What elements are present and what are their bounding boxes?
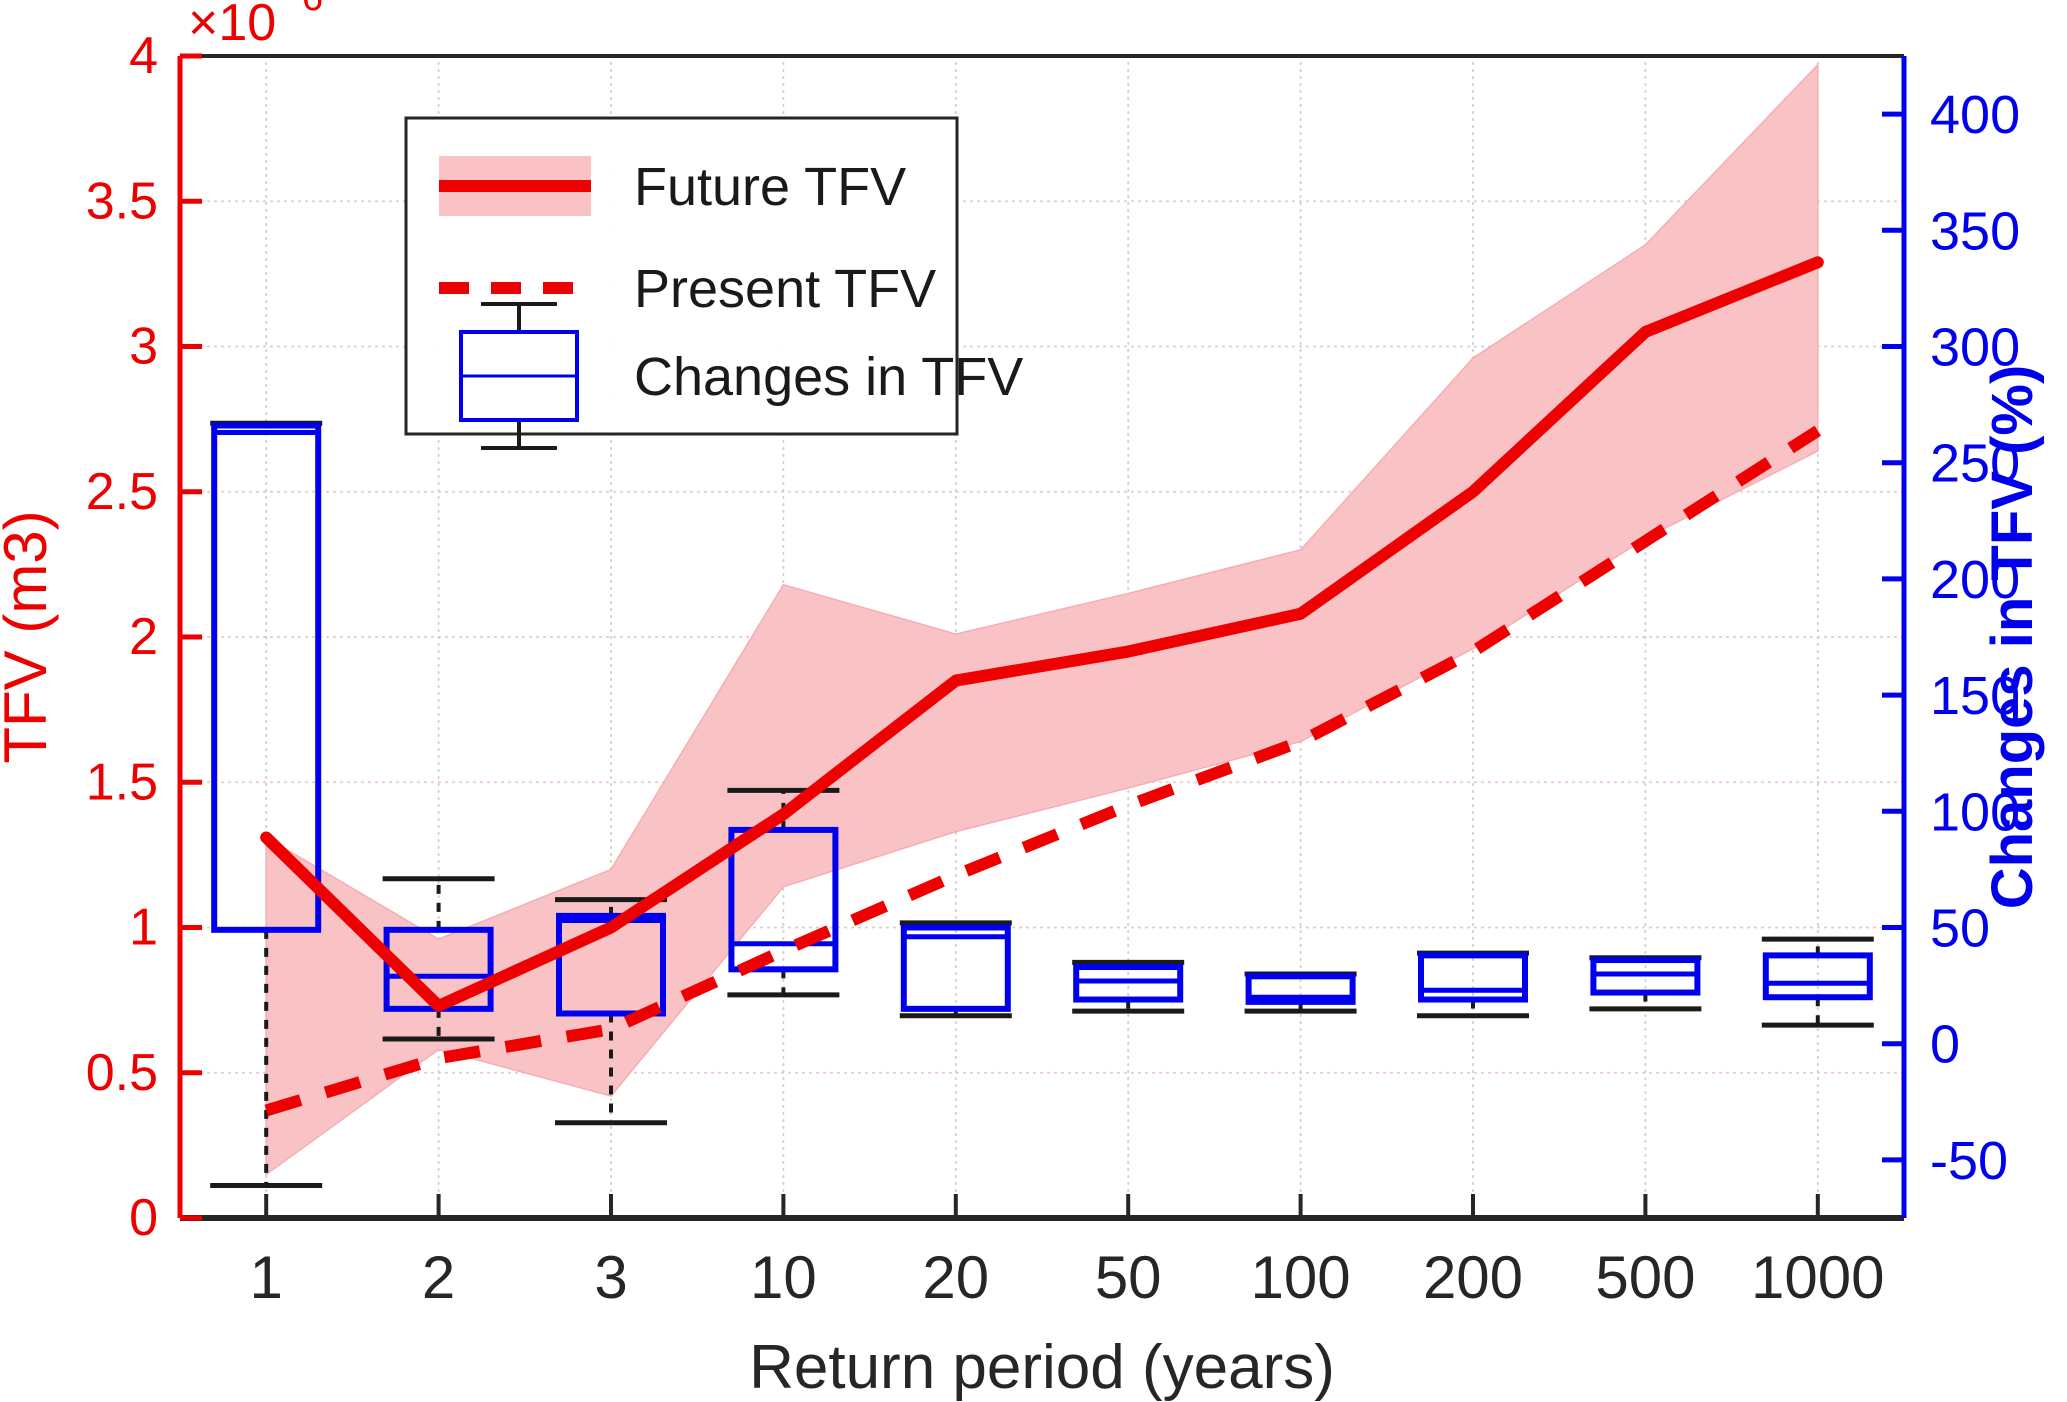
- tick-label-left: 0: [129, 1189, 158, 1247]
- box: [1421, 955, 1525, 999]
- chart-canvas: 00.511.522.533.54×106TFV (m3)-5005010015…: [0, 0, 2067, 1402]
- tick-label-left: 4: [129, 27, 158, 85]
- figure-root: 00.511.522.533.54×106TFV (m3)-5005010015…: [0, 0, 2067, 1402]
- exponent-superscript-label: 6: [302, 0, 323, 19]
- tick-label-left: 0.5: [86, 1044, 158, 1102]
- tick-label-x: 2: [422, 1244, 455, 1311]
- x-axis-title: Return period (years): [749, 1333, 1335, 1402]
- left-axis-title: TFV (m3): [0, 510, 59, 763]
- tick-label-left: 1.5: [86, 753, 158, 811]
- tick-label-x: 50: [1095, 1244, 1162, 1311]
- tick-label-x: 20: [922, 1244, 989, 1311]
- tick-label-left: 2.5: [86, 463, 158, 521]
- tick-label-right: 0: [1930, 1015, 1960, 1075]
- legend: Future TFVPresent TFVChanges in TFV: [406, 118, 1023, 448]
- tick-label-left: 3: [129, 318, 158, 376]
- boxplot-200: [1417, 953, 1529, 1016]
- tick-label-x: 1: [250, 1244, 283, 1311]
- exponent-base-label: ×10: [188, 0, 276, 52]
- tick-label-left: 1: [129, 899, 158, 957]
- boxplot-1000: [1762, 939, 1874, 1025]
- tick-label-left: 3.5: [86, 172, 158, 230]
- legend-label-present-tfv: Present TFV: [634, 259, 936, 319]
- tick-label-x: 10: [750, 1244, 817, 1311]
- right-axis-title: Changes in TFV (%): [1980, 365, 2045, 910]
- tick-label-right: 350: [1930, 201, 2020, 261]
- tick-label-right: -50: [1930, 1131, 2008, 1191]
- tick-label-x: 500: [1595, 1244, 1695, 1311]
- legend-item-future-tfv[interactable]: Future TFV: [439, 156, 906, 217]
- legend-label-changes-in-tfv: Changes in TFV: [634, 347, 1023, 407]
- tick-label-left: 2: [129, 608, 158, 666]
- x-axis: 1231020501002005001000Return period (yea…: [250, 1194, 1885, 1402]
- legend-label-future-tfv: Future TFV: [634, 157, 906, 217]
- tick-label-x: 200: [1423, 1244, 1523, 1311]
- tick-label-right: 400: [1930, 85, 2020, 145]
- box: [1766, 955, 1870, 997]
- tick-label-x: 1000: [1751, 1244, 1884, 1311]
- tick-label-x: 100: [1251, 1244, 1351, 1311]
- tick-label-x: 3: [594, 1244, 627, 1311]
